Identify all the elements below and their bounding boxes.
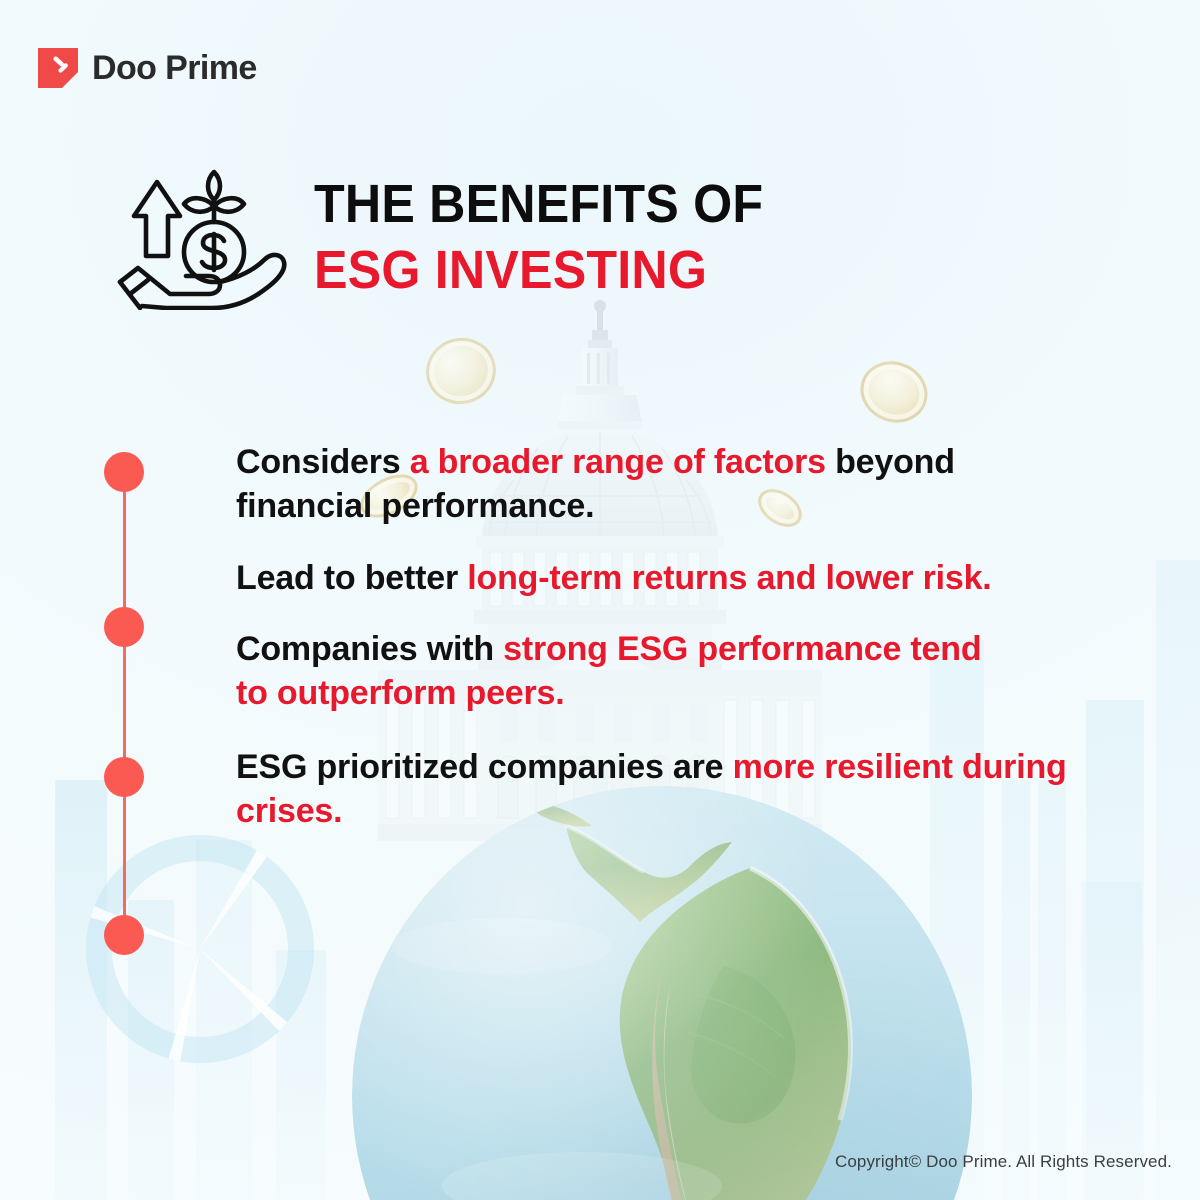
benefit-item-2: Lead to better long-term returns and low… [236,556,1046,600]
headline-text: THE BENEFITS OF ESG INVESTING [314,171,797,300]
timeline-dot-3 [104,757,144,797]
brand-name: Doo Prime [92,51,257,85]
headline-line-1: THE BENEFITS OF [314,175,763,233]
brand-logo[interactable]: Doo Prime [38,48,257,88]
timeline-rail [123,468,126,936]
doo-prime-logo-mark-icon [38,48,78,88]
timeline-dot-2 [104,607,144,647]
gold-coin-2 [851,351,937,432]
headline-block: THE BENEFITS OF ESG INVESTING [112,160,1112,310]
benefit-item-4: ESG prioritized companies are more resil… [236,745,1076,833]
timeline-rail-group [104,452,144,952]
headline-line-2: ESG INVESTING [314,241,763,299]
benefits-list: Considers a broader range of factors bey… [236,440,1116,833]
timeline-dot-1 [104,452,144,492]
esg-investing-infographic: Doo Prime THE BENEFITS OF ESG INVESTING [0,0,1200,1200]
benefit-item-1: Considers a broader range of factors bey… [236,440,1081,528]
hand-holding-money-bag-growth-icon [112,160,288,310]
copyright-text: Copyright© Doo Prime. All Rights Reserve… [835,1152,1172,1172]
timeline-dot-4 [104,915,144,955]
earth-globe-americas-illustration [352,786,972,1200]
benefit-item-3: Companies with strong ESG performance te… [236,627,1021,715]
